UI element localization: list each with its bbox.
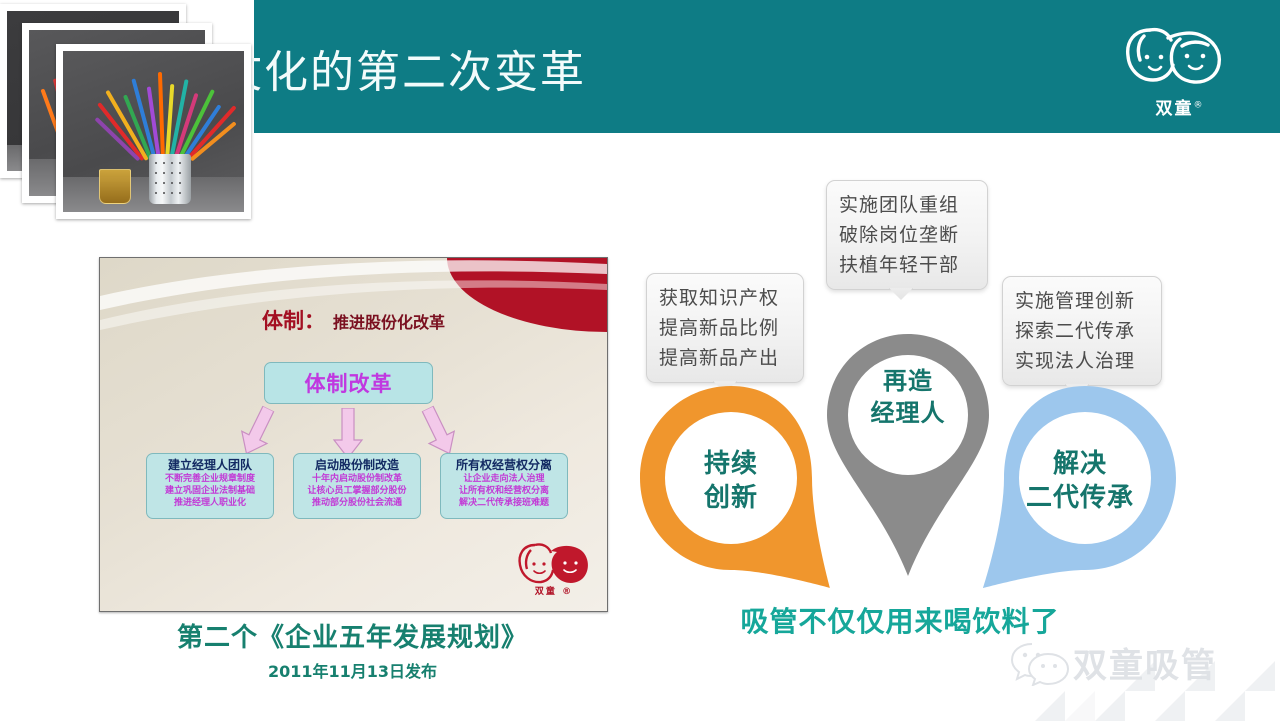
callout-right-line-2: 探索二代传承 (1015, 316, 1149, 346)
slide-box-2-line-1: 十年内启动股份制改革 (294, 473, 420, 485)
slide-box-2: 启动股份制改造 十年内启动股份制改革 让核心员工掌握部分股份 推动部分股份社会流… (293, 453, 421, 519)
slide-box-2-title: 启动股份制改造 (294, 458, 420, 473)
callout-right-line-3: 实现法人治理 (1015, 346, 1149, 376)
callout-right: 实施管理创新 探索二代传承 实现法人治理 (1002, 276, 1162, 386)
slide-heading-key: 体制： (262, 309, 325, 333)
header-underline (254, 133, 1280, 137)
callout-left-line-3: 提高新品产出 (659, 343, 791, 373)
slide-box-1-line-1: 不断完善企业规章制度 (147, 473, 273, 485)
slide-box-3-line-1: 让企业走向法人治理 (441, 473, 567, 485)
slide-canvas: 双童企业文化的第二次变革 双童® (0, 0, 1280, 721)
pin-center-label-line-2: 经理人 (823, 397, 993, 429)
slide-main-box-label: 体制改革 (305, 368, 393, 398)
slide-box-3: 所有权经营权分离 让企业走向法人治理 让所有权和经营权分离 解决二代传承接班难题 (440, 453, 568, 519)
slide-box-1-line-3: 推进经理人职业化 (147, 497, 273, 509)
slide-logo-brand: 双童 (535, 587, 557, 597)
brand-name: 双童® (1120, 94, 1240, 119)
slide-caption-line-1: 第二个《企业五年发展规划》 (99, 617, 606, 654)
watermark: 双童吸管 (995, 638, 1280, 721)
callout-left-line-1: 获取知识产权 (659, 283, 791, 313)
pin-center-label-line-1: 再造 (823, 365, 993, 397)
slide-thumbnail: 体制：推进股份化改革 体制改革 建立经理人团队 不断完善企业规章制度 建立巩固企… (99, 257, 608, 612)
watermark-text: 双童吸管 (1073, 638, 1217, 687)
slide-box-1: 建立经理人团队 不断完善企业规章制度 建立巩固企业法制基础 推进经理人职业化 (146, 453, 274, 519)
wechat-icon (1010, 640, 1070, 686)
callout-top-line-1: 实施团队重组 (839, 190, 975, 220)
pin-right-label-line-1: 解决 (980, 447, 1180, 481)
slide-logo-text: 双童 ® (515, 584, 593, 597)
metal-cup (149, 154, 191, 204)
slide-box-3-line-3: 解决二代传承接班难题 (441, 497, 567, 509)
brand-name-text: 双童 (1156, 99, 1194, 119)
pin-right-label-line-2: 二代传承 (980, 481, 1180, 515)
slide-box-1-title: 建立经理人团队 (147, 458, 273, 473)
slide-main-box: 体制改革 (264, 362, 433, 404)
slide-heading-value: 推进股份化改革 (333, 313, 445, 332)
photo-frame-front (56, 44, 251, 219)
slide-box-3-title: 所有权经营权分离 (441, 458, 567, 473)
two-children-faces-logo-icon (1120, 20, 1240, 94)
slide-caption: 第二个《企业五年发展规划》 2011年11月13日发布 (99, 617, 606, 682)
slide-box-2-line-2: 让核心员工掌握部分股份 (294, 485, 420, 497)
callout-top: 实施团队重组 破除岗位垄断 扶植年轻干部 (826, 180, 988, 290)
strategy-diagram: 获取知识产权 提高新品比例 提高新品产出 实施团队重组 破除岗位垄断 扶植年轻干… (620, 160, 1180, 640)
slide-logo-mark: ® (562, 587, 573, 597)
brand-registered-mark: ® (1194, 100, 1205, 110)
pin-left-label-line-1: 持续 (636, 447, 826, 481)
pin-right-label: 解决 二代传承 (980, 447, 1180, 515)
brand-logo: 双童® (1120, 20, 1240, 124)
gold-glass (99, 169, 131, 204)
callout-left-line-2: 提高新品比例 (659, 313, 791, 343)
slide-caption-line-2: 2011年11月13日发布 (99, 658, 606, 682)
pin-left-label-line-2: 创新 (636, 481, 826, 515)
callout-left: 获取知识产权 提高新品比例 提高新品产出 (646, 273, 804, 383)
diagram-caption: 吸管不仅仅用来喝饮料了 (620, 600, 1180, 640)
callout-top-line-3: 扶植年轻干部 (839, 250, 975, 280)
slide-box-1-line-2: 建立巩固企业法制基础 (147, 485, 273, 497)
slide-heading: 体制：推进股份化改革 (100, 305, 607, 335)
callout-top-line-2: 破除岗位垄断 (839, 220, 975, 250)
pin-left-label: 持续 创新 (636, 447, 826, 515)
pin-center-label: 再造 经理人 (823, 365, 993, 429)
callout-top-tail (889, 288, 913, 300)
callout-right-line-1: 实施管理创新 (1015, 286, 1149, 316)
photo-stack (0, 4, 256, 219)
slide-box-2-line-3: 推动部分股份社会流通 (294, 497, 420, 509)
slide-box-3-line-2: 让所有权和经营权分离 (441, 485, 567, 497)
photo-frame-front-image (63, 51, 244, 212)
